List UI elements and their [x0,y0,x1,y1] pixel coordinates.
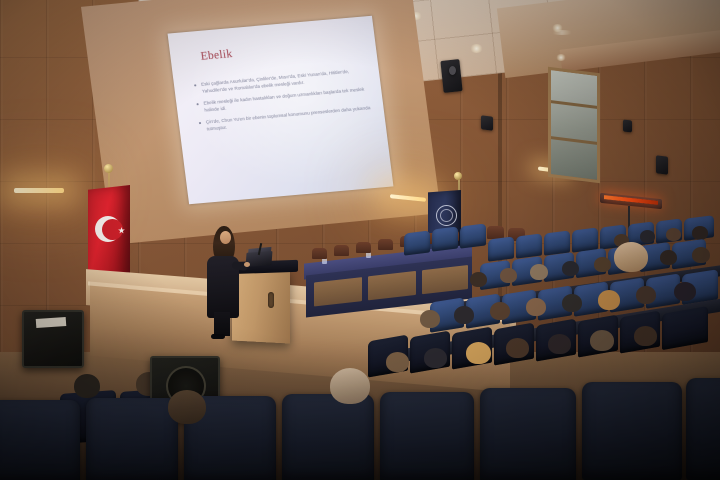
slide-content: Ebelik Eski çağlarda Asurlular'da, Çinli… [181,24,385,197]
lectern-handle-icon [268,292,274,308]
slide-title: Ebelik [200,36,368,62]
audience-head [634,326,657,346]
audience-head [640,230,655,243]
foreground-audience-head [614,242,648,272]
head-table-panel [368,271,416,300]
panel-chair [356,242,371,253]
audience-head [454,306,474,324]
foreground-seat-back [480,388,576,480]
recessed-downlight-icon [556,54,566,61]
wall-speaker-icon [656,155,668,174]
audience-head [74,374,100,398]
wall-speaker-icon [623,119,632,132]
audience-head [692,247,710,263]
audience-head [666,228,681,241]
audience-head [500,268,517,283]
audience-head-headscarf [590,330,614,351]
foreground-audience-head [168,390,206,424]
foreground-seat-back [86,398,178,480]
audience-head [424,348,447,368]
ceiling-speaker-icon [449,66,456,75]
presenter-legs [214,312,230,336]
conference-hall-photograph: Ebelik Eski çağlarda Asurlular'da, Çinli… [0,0,720,480]
audience-head-headscarf [386,352,409,372]
audience-head-headscarf [530,264,548,280]
presenter-shoe [211,334,225,339]
audience-head [692,226,708,240]
audience-head-headscarf [526,298,546,316]
flag-pole-finial [104,164,113,173]
audience-head [636,286,656,304]
ceiling-speaker-icon [440,59,462,93]
foreground-seat-back [0,400,80,480]
audience-head [548,334,571,354]
audience-head-blonde [466,342,491,364]
foreground-audience-head [330,368,370,404]
presenter-hand [244,262,250,267]
recessed-downlight-icon [550,30,574,35]
institution-emblem-inner-icon [440,209,453,222]
wall-sconce-light-icon [14,188,64,193]
panel-chair [378,239,393,250]
foreground-seat-back [282,394,374,480]
recessed-downlight-icon [470,44,483,53]
head-table-panel [422,265,468,294]
audience-seat [432,226,458,251]
institution-flag-finial [454,172,462,180]
foreground-seat-back [686,378,720,480]
audience-seat [460,223,486,248]
wall-window [548,67,600,183]
audience-head [594,257,611,272]
audience-seat [516,233,542,258]
foreground-seat-back [582,382,682,480]
audience-head [490,302,510,320]
audience-seat [488,236,514,261]
lectern [232,266,290,343]
audience-head-headscarf [420,310,440,328]
audience-head [674,282,696,301]
foreground-seat-back [380,392,474,480]
audience-seat [404,230,430,255]
audience-head [562,261,579,276]
slide-bullet-list: Eski çağlarda Asurlular'da, Çinliler'de,… [194,66,377,134]
wall-speaker-icon [481,115,493,130]
audience-head [506,338,529,358]
presenter-face [220,231,231,244]
panel-chair [334,245,349,256]
audience-head [660,250,677,265]
audience-head [470,272,487,287]
audience-head [562,294,582,312]
panel-chair [312,248,327,259]
wall-corner-edge [498,36,502,336]
head-table-panel [314,277,362,306]
audience-head-blonde [598,290,620,310]
audience-seat [544,230,570,255]
projection-screen: Ebelik Eski çağlarda Asurlular'da, Çinli… [168,16,394,205]
